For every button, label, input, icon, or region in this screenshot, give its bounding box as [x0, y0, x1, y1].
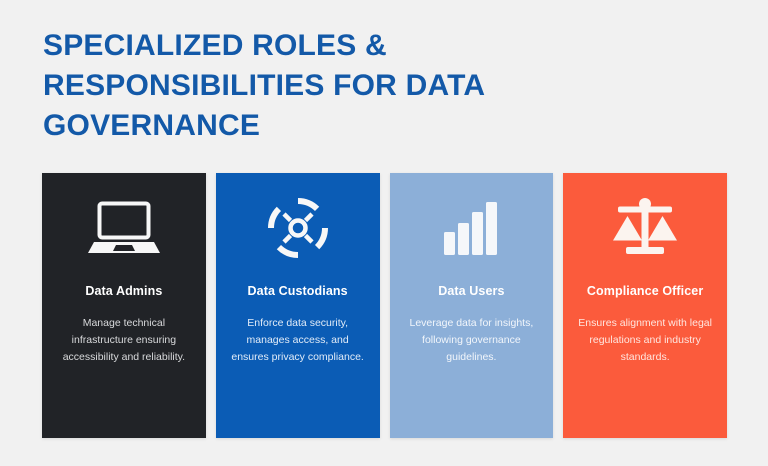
- vault-dial-icon: [226, 173, 370, 283]
- role-card-list: Data Admins Manage technical infrastruct…: [42, 173, 727, 438]
- slide-canvas: SPECIALIZED ROLES & RESPONSIBILITIES FOR…: [0, 0, 768, 466]
- role-card-data-admins[interactable]: Data Admins Manage technical infrastruct…: [42, 173, 206, 438]
- laptop-icon: [52, 173, 196, 283]
- role-card-description: Ensures alignment with legal regulations…: [575, 315, 715, 366]
- page-title: SPECIALIZED ROLES & RESPONSIBILITIES FOR…: [43, 26, 683, 146]
- role-card-title: Compliance Officer: [587, 283, 703, 299]
- role-card-description: Leverage data for insights, following go…: [401, 315, 541, 366]
- bar-chart-icon: [400, 173, 544, 283]
- role-card-data-users[interactable]: Data Users Leverage data for insights, f…: [390, 173, 554, 438]
- role-card-title: Data Users: [438, 283, 504, 299]
- role-card-data-custodians[interactable]: Data Custodians Enforce data security, m…: [216, 173, 380, 438]
- scales-icon: [573, 173, 717, 283]
- role-card-title: Data Custodians: [248, 283, 348, 299]
- role-card-title: Data Admins: [85, 283, 162, 299]
- role-card-description: Manage technical infrastructure ensuring…: [54, 315, 194, 366]
- role-card-compliance-officer[interactable]: Compliance Officer Ensures alignment wit…: [563, 173, 727, 438]
- role-card-description: Enforce data security, manages access, a…: [228, 315, 368, 366]
